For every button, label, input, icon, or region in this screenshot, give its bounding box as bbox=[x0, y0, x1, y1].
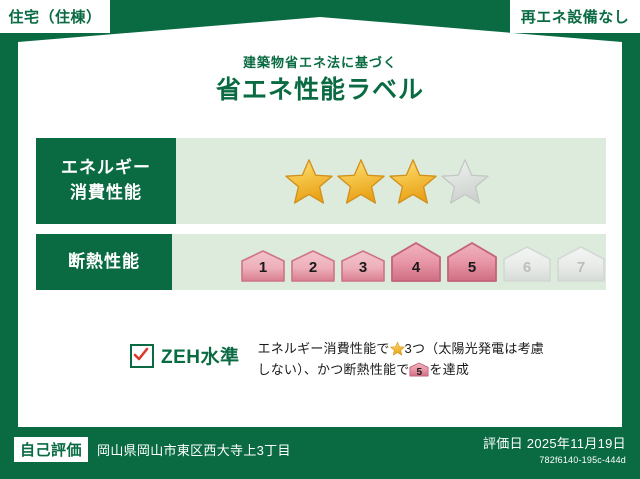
row-insulation-value: 1 2 3 bbox=[172, 234, 606, 290]
zeh-desc-part1: エネルギー消費性能で bbox=[258, 341, 390, 356]
label-title-block: 建築物省エネ法に基づく 省エネ性能ラベル bbox=[0, 55, 640, 105]
checkmark-icon bbox=[133, 347, 149, 363]
row-energy-label-line1: エネルギー bbox=[61, 156, 151, 181]
insulation-level-7: 7 bbox=[556, 245, 606, 283]
star-icon-filled-1 bbox=[284, 157, 334, 205]
zeh-title: ZEH水準 bbox=[161, 342, 240, 369]
title-subtitle: 建築物省エネ法に基づく bbox=[0, 55, 640, 71]
insulation-level-1: 1 bbox=[240, 249, 286, 283]
insulation-level-7-number: 7 bbox=[556, 259, 606, 276]
zeh-standard-block: ZEH水準 エネルギー消費性能で3つ（太陽光発電は考慮しない）、かつ断熱性能で5… bbox=[130, 338, 548, 380]
row-energy-value bbox=[176, 138, 606, 224]
star-icon-empty-4 bbox=[440, 157, 490, 205]
insulation-level-scale: 1 2 3 bbox=[240, 241, 606, 283]
evaluation-date: 評価日 2025年11月19日 bbox=[483, 433, 626, 452]
star-icon-filled-2 bbox=[336, 157, 386, 205]
row-energy-label: エネルギー 消費性能 bbox=[36, 138, 176, 224]
star-rating bbox=[284, 157, 490, 205]
inline-star-icon bbox=[390, 341, 405, 356]
row-insulation-label-text: 断熱性能 bbox=[68, 250, 140, 275]
row-insulation-label: 断熱性能 bbox=[36, 234, 172, 290]
badge-renewable-energy: 再エネ設備なし bbox=[510, 0, 640, 33]
insulation-level-4: 4 bbox=[390, 241, 442, 283]
rating-rows: エネルギー 消費性能 bbox=[36, 138, 606, 300]
badge-building-type: 住宅（住棟） bbox=[0, 0, 110, 33]
self-evaluation-badge: 自己評価 bbox=[14, 437, 88, 462]
energy-label-root: 住宅（住棟） 再エネ設備なし 建築物省エネ法に基づく 省エネ性能ラベル エネルギ… bbox=[0, 0, 640, 479]
row-insulation-performance: 断熱性能 bbox=[36, 234, 606, 290]
footer-right-group: 評価日 2025年11月19日 782f6140-195c-444d bbox=[483, 433, 626, 465]
zeh-desc-part3: を達成 bbox=[429, 362, 469, 377]
insulation-level-5-number: 5 bbox=[446, 259, 498, 276]
insulation-level-3-number: 3 bbox=[340, 259, 386, 276]
label-footer: 自己評価 岡山県岡山市東区西大寺上3丁目 評価日 2025年11月19日 782… bbox=[0, 427, 640, 479]
inline-house-icon: 5 bbox=[409, 361, 429, 378]
insulation-level-3: 3 bbox=[340, 249, 386, 283]
evaluation-code: 782f6140-195c-444d bbox=[483, 455, 626, 465]
insulation-level-6: 6 bbox=[502, 245, 552, 283]
insulation-level-5: 5 bbox=[446, 241, 498, 283]
insulation-level-2-number: 2 bbox=[290, 259, 336, 276]
insulation-level-6-number: 6 bbox=[502, 259, 552, 276]
inline-house-level: 5 bbox=[409, 368, 429, 378]
zeh-checkbox[interactable] bbox=[130, 344, 154, 368]
zeh-desc-star-count: 3つ（太陽光発電 bbox=[405, 341, 505, 356]
insulation-level-4-number: 4 bbox=[390, 259, 442, 276]
row-energy-label-line2: 消費性能 bbox=[70, 181, 142, 206]
row-energy-performance: エネルギー 消費性能 bbox=[36, 138, 606, 224]
star-icon-filled-3 bbox=[388, 157, 438, 205]
insulation-level-2: 2 bbox=[290, 249, 336, 283]
property-address: 岡山県岡山市東区西大寺上3丁目 bbox=[97, 440, 291, 459]
zeh-description: エネルギー消費性能で3つ（太陽光発電は考慮しない）、かつ断熱性能で5を達成 bbox=[258, 338, 548, 380]
insulation-level-1-number: 1 bbox=[240, 259, 286, 276]
title-main: 省エネ性能ラベル bbox=[0, 75, 640, 105]
footer-left-group: 自己評価 岡山県岡山市東区西大寺上3丁目 bbox=[14, 437, 291, 462]
